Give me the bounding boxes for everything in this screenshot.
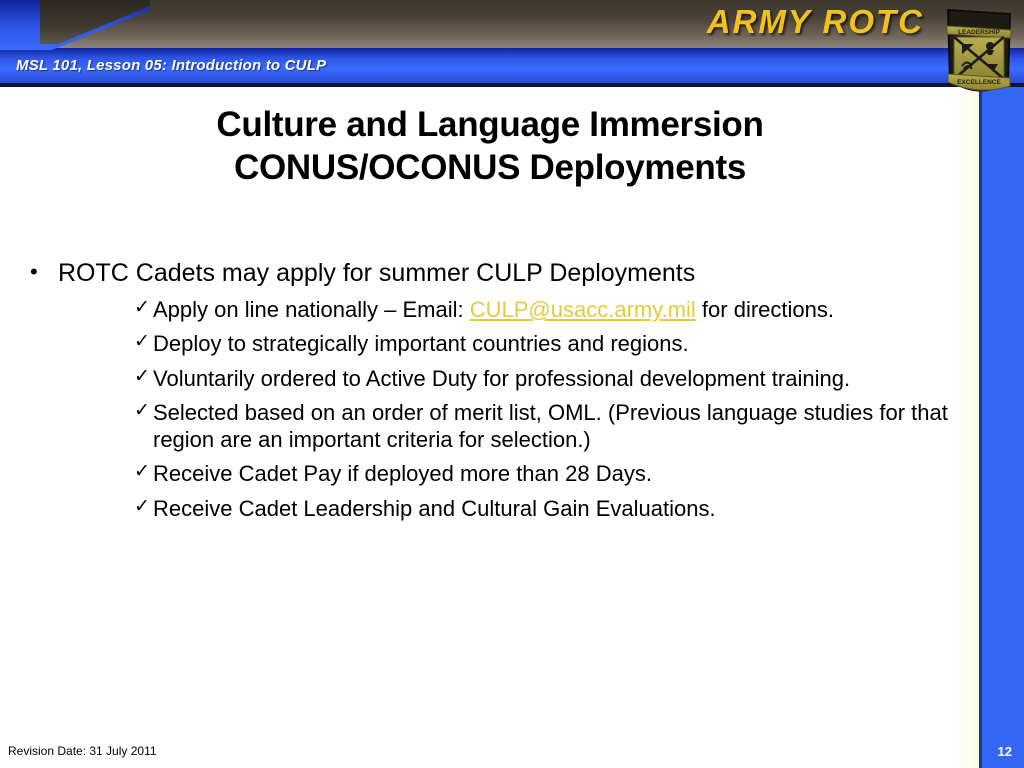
slide-canvas: ARMY ROTC MSL 101, Lesson 05: Introducti… bbox=[0, 0, 1024, 768]
brand-wordmark: ARMY ROTC bbox=[707, 3, 924, 41]
slide-header: ARMY ROTC MSL 101, Lesson 05: Introducti… bbox=[0, 0, 1024, 88]
sub-bullet-item: ✓Selected based on an order of merit lis… bbox=[22, 399, 962, 454]
check-icon: ✓ bbox=[134, 460, 153, 485]
main-bullet-item: • ROTC Cadets may apply for summer CULP … bbox=[22, 258, 962, 288]
sub-bullet-item: ✓Receive Cadet Pay if deployed more than… bbox=[22, 460, 962, 487]
check-icon: ✓ bbox=[134, 399, 153, 424]
check-icon: ✓ bbox=[134, 495, 153, 520]
sub-bullet-text-post: for directions. bbox=[696, 297, 834, 322]
check-icon: ✓ bbox=[134, 365, 153, 390]
sub-bullet-text-pre: Voluntarily ordered to Active Duty for p… bbox=[153, 366, 850, 391]
header-bottom-rule bbox=[0, 83, 1024, 87]
sub-bullet-text-pre: Receive Cadet Pay if deployed more than … bbox=[153, 461, 652, 486]
sub-bullet-text: Receive Cadet Leadership and Cultural Ga… bbox=[153, 495, 962, 522]
sub-bullet-item: ✓Apply on line nationally – Email: CULP@… bbox=[22, 296, 962, 323]
sub-bullet-item: ✓Voluntarily ordered to Active Duty for … bbox=[22, 365, 962, 392]
army-rotc-crest-icon: LEADERSHIP EXCELLENCE bbox=[942, 4, 1016, 102]
right-blue-rail bbox=[982, 0, 1024, 768]
bullet-dot-icon: • bbox=[22, 258, 58, 286]
sub-bullet-item: ✓Deploy to strategically important count… bbox=[22, 330, 962, 357]
sub-bullet-text: Apply on line nationally – Email: CULP@u… bbox=[153, 296, 962, 323]
sub-bullet-list: ✓Apply on line nationally – Email: CULP@… bbox=[22, 296, 962, 522]
check-icon: ✓ bbox=[134, 296, 153, 321]
slide-body: • ROTC Cadets may apply for summer CULP … bbox=[22, 258, 962, 529]
title-line-2: CONUS/OCONUS Deployments bbox=[60, 147, 920, 190]
sub-bullet-text-pre: Deploy to strategically important countr… bbox=[153, 331, 689, 356]
svg-text:EXCELLENCE: EXCELLENCE bbox=[957, 79, 1001, 86]
title-line-1: Culture and Language Immersion bbox=[60, 104, 920, 147]
sub-bullet-text: Voluntarily ordered to Active Duty for p… bbox=[153, 365, 962, 392]
slide-title: Culture and Language Immersion CONUS/OCO… bbox=[60, 104, 920, 189]
sub-bullet-text: Selected based on an order of merit list… bbox=[153, 399, 962, 454]
sub-bullet-text-pre: Receive Cadet Leadership and Cultural Ga… bbox=[153, 496, 716, 521]
sub-bullet-item: ✓Receive Cadet Leadership and Cultural G… bbox=[22, 495, 962, 522]
page-number: 12 bbox=[998, 744, 1012, 759]
email-link[interactable]: CULP@usacc.army.mil bbox=[470, 297, 696, 322]
sub-bullet-text-pre: Apply on line nationally – Email: bbox=[153, 297, 470, 322]
revision-date: Revision Date: 31 July 2011 bbox=[8, 744, 157, 758]
svg-text:LEADERSHIP: LEADERSHIP bbox=[958, 29, 1001, 36]
lesson-subtitle: MSL 101, Lesson 05: Introduction to CULP bbox=[16, 57, 326, 74]
sub-bullet-text: Receive Cadet Pay if deployed more than … bbox=[153, 460, 962, 487]
main-bullet-text: ROTC Cadets may apply for summer CULP De… bbox=[58, 258, 962, 288]
sub-bullet-text-pre: Selected based on an order of merit list… bbox=[153, 400, 948, 452]
check-icon: ✓ bbox=[134, 330, 153, 355]
sub-bullet-text: Deploy to strategically important countr… bbox=[153, 330, 962, 357]
